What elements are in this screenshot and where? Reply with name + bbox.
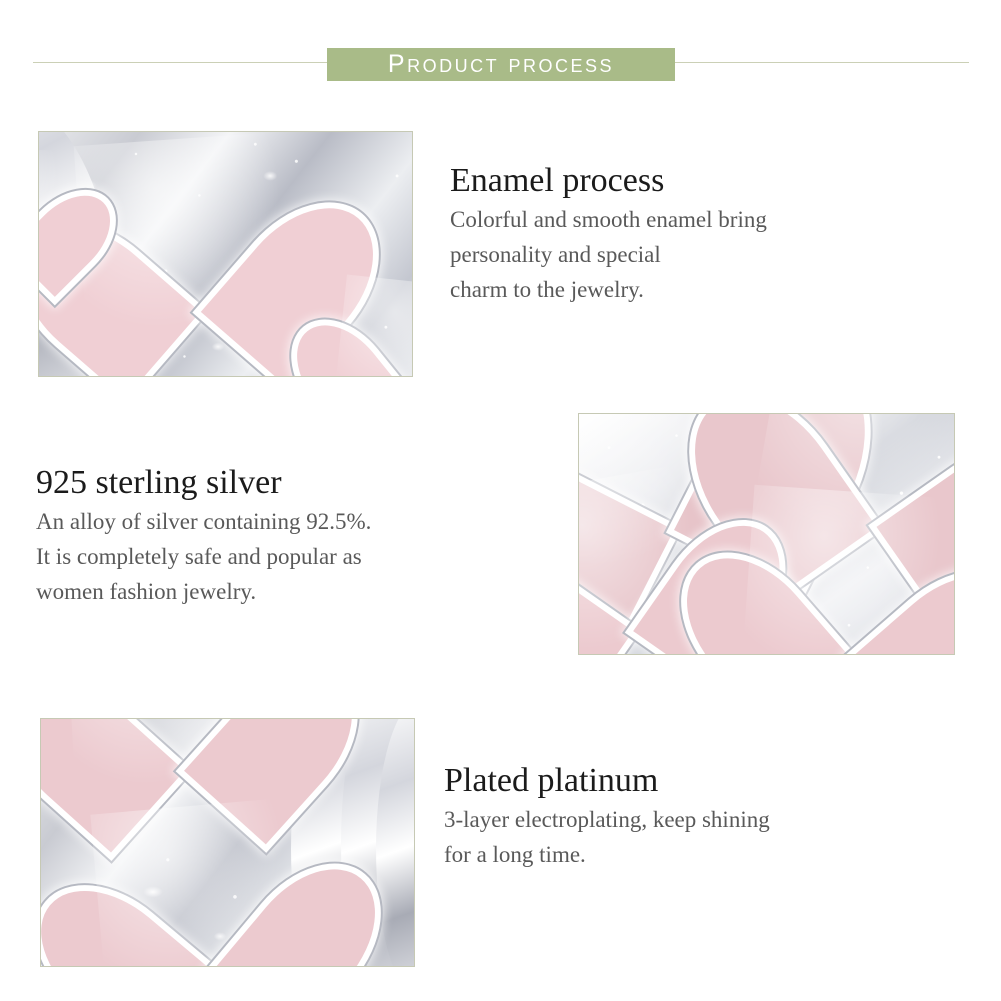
description-line: for a long time. — [444, 837, 904, 872]
feature-image-enamel-process — [38, 131, 413, 377]
description-line: personality and special — [450, 237, 910, 272]
header-rule-right — [674, 62, 969, 63]
photo-inner — [41, 719, 414, 966]
description-line: women fashion jewelry. — [36, 574, 506, 609]
heart-gloss — [90, 796, 322, 966]
feature-text-enamel-process: Enamel process Colorful and smooth ename… — [450, 160, 910, 307]
feature-description-plated-platinum: 3-layer electroplating, keep shining for… — [444, 802, 904, 872]
feature-title-sterling-silver: 925 sterling silver — [36, 462, 506, 504]
section-title-banner: Product process — [327, 48, 675, 81]
description-line: charm to the jewelry. — [450, 272, 910, 307]
enamel-heart-edge — [39, 150, 74, 276]
photo-inner — [39, 132, 412, 376]
enamel-heart-bottom — [90, 796, 322, 966]
header-rule-left — [33, 62, 328, 63]
enamel-heart-main — [74, 132, 319, 364]
section-title-text: Product process — [327, 48, 675, 81]
heart-gloss — [74, 132, 319, 364]
enamel-heart-bottom-right — [740, 485, 954, 654]
feature-text-sterling-silver: 925 sterling silver An alloy of silver c… — [36, 462, 506, 609]
description-line: An alloy of silver containing 92.5%. — [36, 504, 506, 539]
description-line: 3-layer electroplating, keep shining — [444, 802, 904, 837]
feature-description-enamel-process: Colorful and smooth enamel bring persona… — [450, 202, 910, 307]
feature-image-sterling-silver — [578, 413, 955, 655]
feature-title-plated-platinum: Plated platinum — [444, 760, 904, 802]
heart-gloss — [39, 150, 74, 276]
section-header: Product process — [0, 40, 1001, 88]
photo-inner — [579, 414, 954, 654]
feature-image-plated-platinum — [40, 718, 415, 967]
feature-description-sterling-silver: An alloy of silver containing 92.5%. It … — [36, 504, 506, 609]
feature-text-plated-platinum: Plated platinum 3-layer electroplating, … — [444, 760, 904, 872]
description-line: Colorful and smooth enamel bring — [450, 202, 910, 237]
heart-gloss — [740, 485, 954, 654]
description-line: It is completely safe and popular as — [36, 539, 506, 574]
feature-title-enamel-process: Enamel process — [450, 160, 910, 202]
